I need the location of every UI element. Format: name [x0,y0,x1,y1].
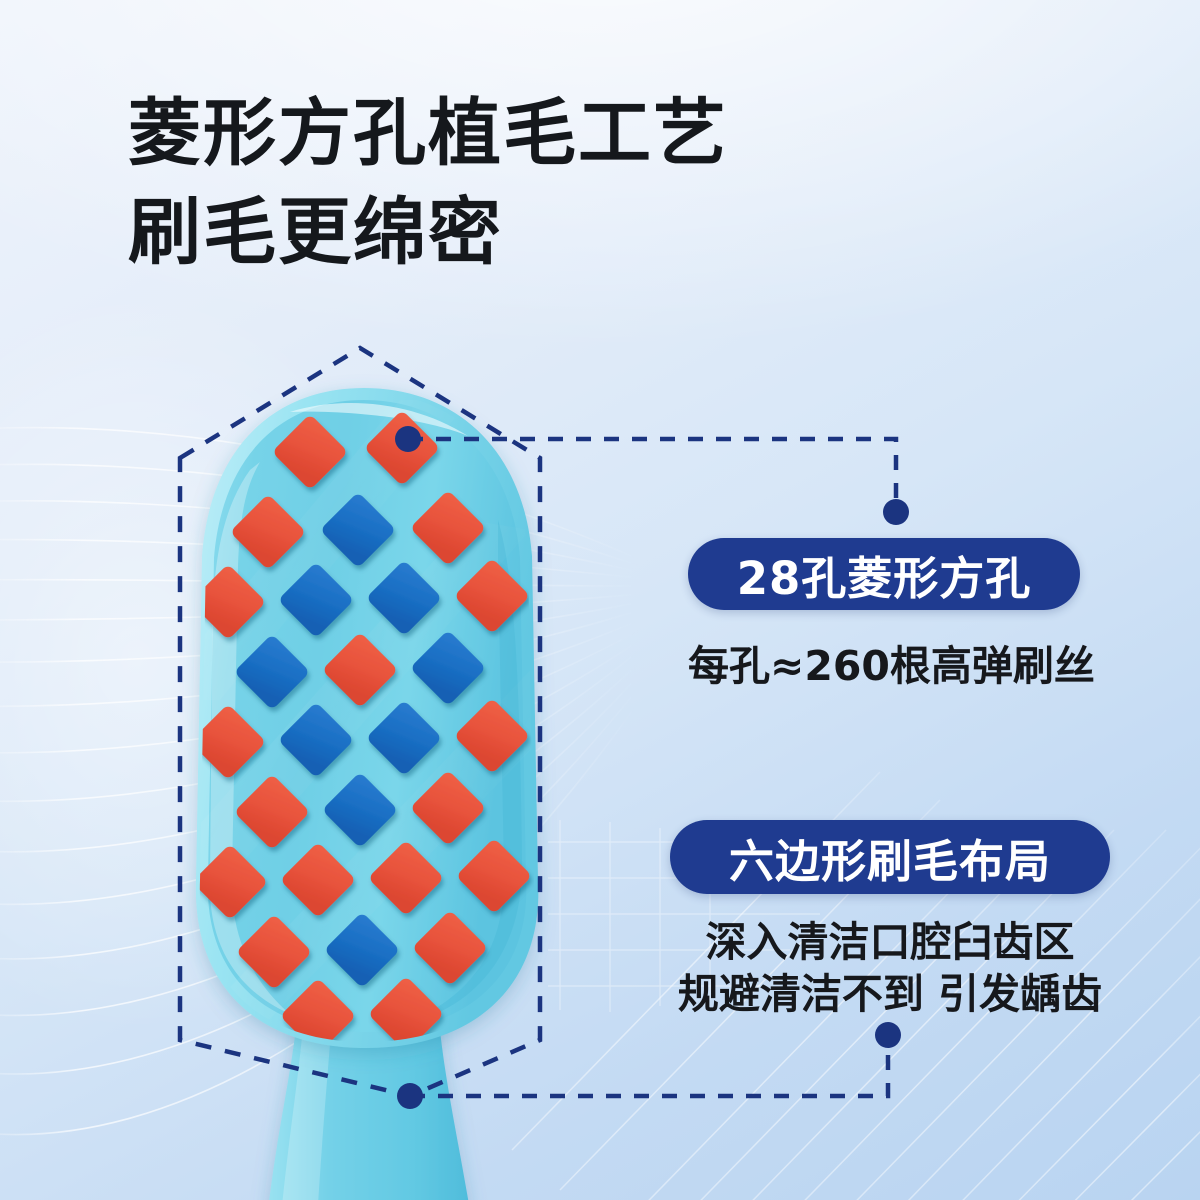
callout-bristle-holes: 28孔菱形方孔 每孔≈260根高弹刷丝 [688,538,1095,692]
headline-line-1: 菱形方孔植毛工艺 [128,84,728,183]
badge-bristle-holes-label: 28孔菱形方孔 [737,542,1032,607]
callout-bristle-holes-subtext: 每孔≈260根高弹刷丝 [688,632,1095,692]
callout-bristle-holes-subtext-line-1: 每孔≈260根高弹刷丝 [688,632,1095,692]
badge-bristle-holes[interactable]: 28孔菱形方孔 [688,538,1080,610]
callout-hexagon-layout-subtext-line-1: 深入清洁口腔臼齿区 [670,916,1110,968]
callout-hexagon-layout-subtext: 深入清洁口腔臼齿区 规避清洁不到 引发龋齿 [670,916,1110,1021]
headline-line-2: 刷毛更绵密 [128,183,728,282]
headline-block: 菱形方孔植毛工艺 刷毛更绵密 [128,84,728,283]
product-infographic: 菱形方孔植毛工艺 刷毛更绵密 [0,0,1200,1200]
callout-hexagon-layout: 六边形刷毛布局 深入清洁口腔臼齿区 规避清洁不到 引发龋齿 [670,820,1110,1021]
badge-hexagon-layout-label: 六边形刷毛布局 [729,825,1051,890]
badge-hexagon-layout[interactable]: 六边形刷毛布局 [670,820,1110,894]
callout-hexagon-layout-subtext-line-2: 规避清洁不到 引发龋齿 [670,968,1110,1020]
